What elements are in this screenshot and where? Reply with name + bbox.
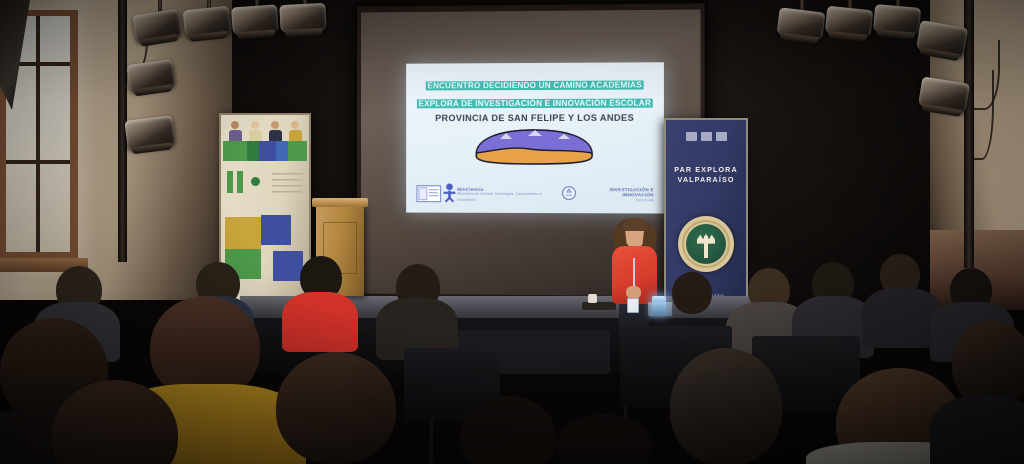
banner-left-header bbox=[221, 115, 309, 163]
emblem-core bbox=[686, 224, 726, 264]
explora-figure-logo bbox=[442, 183, 458, 203]
spotlight-stem bbox=[848, 0, 852, 8]
banner-color-bar bbox=[223, 141, 307, 161]
slide-title-highlight: ENCUENTRO DECIDIENDO UN CAMINO ACADEMIAS… bbox=[417, 80, 654, 108]
logo-mark bbox=[701, 132, 712, 141]
audience-head bbox=[460, 396, 556, 464]
explora-tree-emblem bbox=[678, 216, 734, 272]
emblem-tree-crown bbox=[697, 234, 715, 244]
presenter bbox=[604, 214, 664, 342]
podium-top bbox=[312, 198, 368, 207]
audience-head bbox=[556, 414, 652, 464]
laptop bbox=[648, 302, 672, 316]
stage-spotlight bbox=[183, 6, 232, 39]
slide-logo-row: MinCiencia Ministerio de Ciencia, Tecnol… bbox=[416, 183, 654, 204]
auditorium-photo: ENCUENTRO DECIDIENDO UN CAMINO ACADEMIAS… bbox=[0, 0, 1024, 464]
logo-mark bbox=[716, 132, 727, 141]
figure bbox=[229, 121, 242, 141]
figure bbox=[249, 121, 262, 141]
gobierno-de-chile-seal bbox=[561, 185, 577, 203]
banner-right-logo-row bbox=[666, 120, 746, 141]
figure bbox=[269, 121, 282, 141]
logo-mark bbox=[686, 132, 697, 141]
cup bbox=[588, 294, 597, 303]
side-table bbox=[582, 302, 616, 310]
stage-spotlight bbox=[776, 7, 825, 40]
audience-head-foreground bbox=[276, 352, 396, 464]
banner-title-line-1: PAR EXPLORA bbox=[666, 165, 746, 175]
investigacion-innovacion-escolar-logo: INVESTIGACIÓN E INNOVACIÓN ESCOLAR bbox=[577, 187, 654, 204]
audience-torso-foreground bbox=[930, 396, 1024, 464]
chair-leg bbox=[430, 418, 433, 464]
window-mullion-horizontal-bottom bbox=[6, 160, 70, 164]
slide-subtitle: PROVINCIA DE SAN FELIPE Y LOS ANDES bbox=[406, 113, 664, 124]
stage-spotlight bbox=[279, 3, 326, 33]
stage-spotlight bbox=[918, 76, 970, 113]
figure bbox=[289, 121, 302, 141]
spotlight-stem bbox=[800, 0, 804, 10]
window-mullion-vertical bbox=[36, 16, 40, 252]
banner-right-title: PAR EXPLORA VALPARAÍSO bbox=[666, 165, 746, 185]
stage-spotlight bbox=[825, 6, 874, 39]
stage-spotlight bbox=[132, 9, 182, 44]
gob-chile-logo bbox=[416, 185, 442, 203]
audience-head bbox=[672, 272, 712, 314]
audience-torso bbox=[282, 292, 358, 352]
andes-mountain-illustration bbox=[470, 126, 598, 166]
stage-spotlight bbox=[231, 4, 279, 35]
presenter-name-badge bbox=[627, 298, 639, 313]
minciencia-logo: MinCiencia Ministerio de Ciencia, Tecnol… bbox=[457, 187, 561, 203]
stage-spotlight bbox=[124, 115, 175, 151]
audience-head-foreground bbox=[670, 348, 782, 464]
banner-left-text-block bbox=[221, 163, 309, 215]
banner-title-line-2: VALPARAÍSO bbox=[666, 175, 746, 185]
slide-title-block: ENCUENTRO DECIDIENDO UN CAMINO ACADEMIAS… bbox=[406, 62, 664, 111]
stage-spotlight bbox=[126, 59, 175, 93]
presentation-slide: ENCUENTRO DECIDIENDO UN CAMINO ACADEMIAS… bbox=[406, 62, 664, 213]
audience-head-foreground bbox=[952, 320, 1024, 408]
stage-spotlight bbox=[873, 4, 921, 36]
banner-illustrated-figures bbox=[225, 119, 305, 141]
